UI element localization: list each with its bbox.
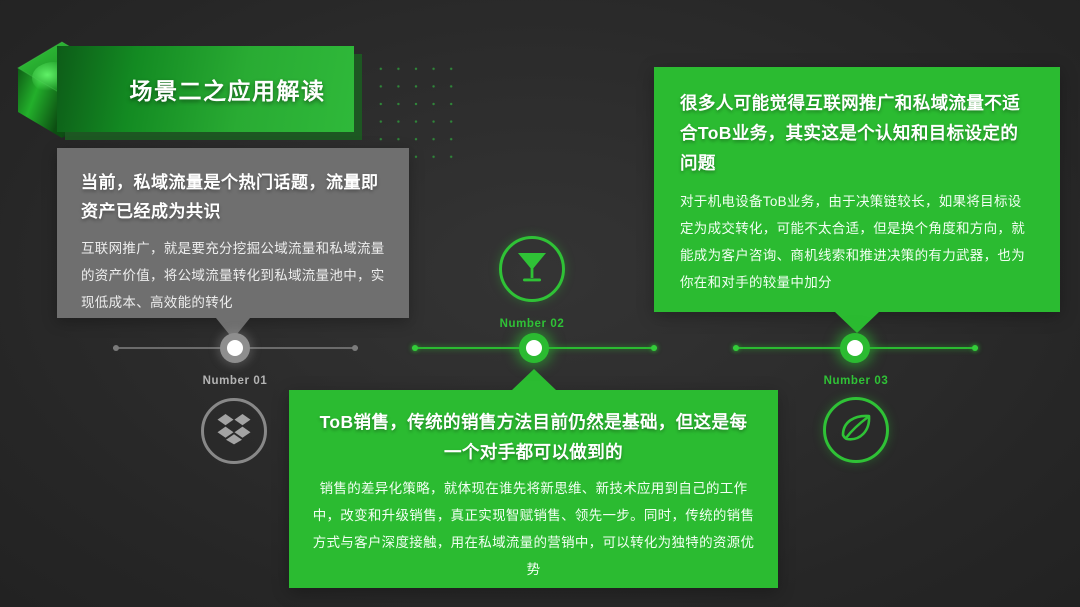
card-number-02: ToB销售，传统的销售方法目前仍然是基础，但这是每一个对手都可以做到的 销售的差… (289, 390, 778, 588)
icon-circle-03[interactable] (823, 397, 889, 463)
header-banner: 场景二之应用解读 (57, 46, 354, 132)
card-number-03: 很多人可能觉得互联网推广和私域流量不适合ToB业务，其实这是个认知和目标设定的问… (654, 67, 1060, 312)
timeline-track-01 (113, 345, 358, 351)
page-title: 场景二之应用解读 (57, 46, 354, 132)
card-two-title: ToB销售，传统的销售方法目前仍然是基础，但这是每一个对手都可以做到的 (311, 407, 756, 467)
timeline-label-01: Number 01 (175, 375, 295, 387)
card-one-body: 互联网推广，就是要充分挖掘公域流量和私域流量的资产价值，将公域流量转化到私域流量… (81, 235, 385, 316)
timeline-marker-dot (526, 340, 542, 356)
dropbox-icon (217, 413, 251, 450)
timeline-marker-dot (227, 340, 243, 356)
timeline-marker-03[interactable] (840, 333, 870, 363)
timeline-cap-left (113, 345, 119, 351)
slide-canvas: 场景二之应用解读 当前，私域流量是个热门话题，流量即资产已经成为共识 互联网推广… (0, 0, 1080, 607)
card-three-title: 很多人可能觉得互联网推广和私域流量不适合ToB业务，其实这是个认知和目标设定的问… (680, 88, 1034, 178)
icon-circle-02[interactable] (499, 236, 565, 302)
icon-circle-01[interactable] (201, 398, 267, 464)
card-two-pointer (512, 369, 556, 390)
timeline-cap-right (352, 345, 358, 351)
card-three-body: 对于机电设备ToB业务，由于决策链较长，如果将目标设定为成交转化，可能不太合适，… (680, 188, 1034, 296)
cocktail-icon (517, 251, 547, 288)
timeline-cap-right (972, 345, 978, 351)
card-three-pointer (835, 312, 879, 333)
card-two-body: 销售的差异化策略，就体现在谁先将新思维、新技术应用到自己的工作中，改变和升级销售… (311, 475, 756, 583)
timeline-label-03: Number 03 (796, 375, 916, 387)
leaf-icon (839, 413, 873, 448)
timeline-cap-right (651, 345, 657, 351)
timeline-track-03 (733, 345, 978, 351)
card-one-title: 当前，私域流量是个热门话题，流量即资产已经成为共识 (81, 168, 385, 226)
timeline-marker-dot (847, 340, 863, 356)
timeline-marker-01[interactable] (220, 333, 250, 363)
timeline-label-02: Number 02 (472, 318, 592, 330)
timeline-track-02 (412, 345, 657, 351)
timeline-cap-left (412, 345, 418, 351)
timeline-marker-02[interactable] (519, 333, 549, 363)
timeline-cap-left (733, 345, 739, 351)
card-number-01: 当前，私域流量是个热门话题，流量即资产已经成为共识 互联网推广，就是要充分挖掘公… (57, 148, 409, 318)
